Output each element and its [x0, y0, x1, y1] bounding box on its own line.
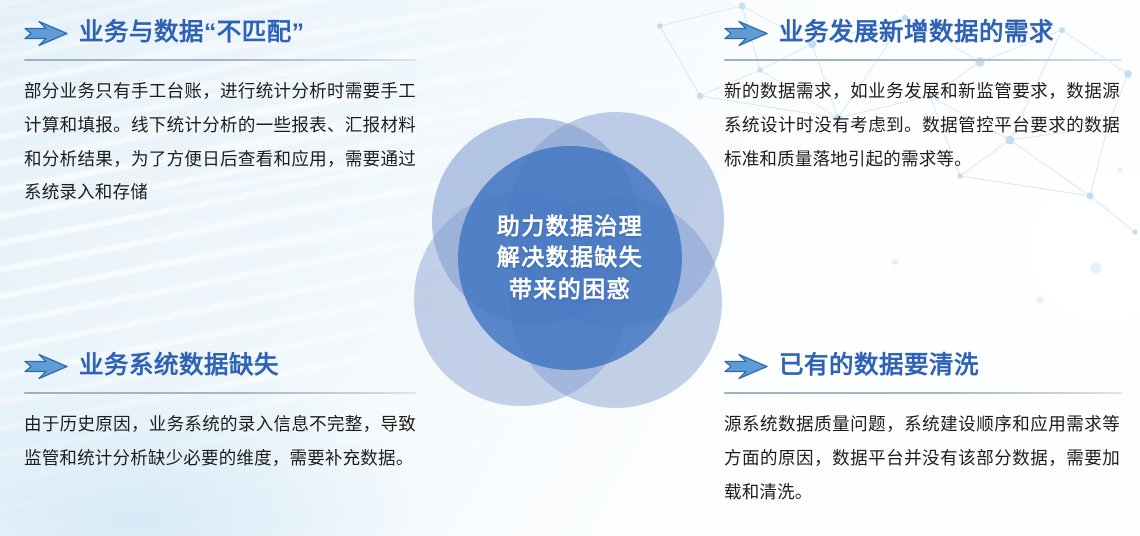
arrow-right-icon — [724, 353, 768, 380]
panel-body-text: 新的数据需求，如业务发展和新监管要求，数据源系统设计时没有考虑到。数据管控平台要… — [724, 75, 1122, 176]
panel-divider — [24, 392, 416, 394]
panel-title: 业务系统数据缺失 — [79, 354, 279, 379]
panel-header: 业务系统数据缺失 — [24, 347, 416, 385]
panel-title: 业务发展新增数据的需求 — [779, 21, 1054, 46]
panel-business-system-data-missing: 业务系统数据缺失 由于历史原因，业务系统的录入信息不完整，导致监管和统计分析缺少… — [24, 347, 416, 476]
center-text-line-1: 助力数据治理 — [497, 211, 643, 242]
arrow-right-icon — [24, 20, 68, 47]
center-text-line-3: 带来的困惑 — [509, 274, 631, 305]
panel-divider — [24, 59, 416, 61]
panel-body-text: 部分业务只有手工台账，进行统计分析时需要手工计算和填报。线下统计分析的一些报表、… — [24, 75, 416, 210]
center-text-line-2: 解决数据缺失 — [497, 242, 643, 273]
slide-canvas: 助力数据治理 解决数据缺失 带来的困惑 业务与数据“不匹配” 部分业务只有手工台… — [0, 0, 1140, 536]
panel-business-data-mismatch: 业务与数据“不匹配” 部分业务只有手工台账，进行统计分析时需要手工计算和填报。线… — [24, 14, 416, 210]
panel-business-growth-new-data-demand: 业务发展新增数据的需求 新的数据需求，如业务发展和新监管要求，数据源系统设计时没… — [724, 14, 1122, 176]
panel-divider — [724, 392, 1122, 394]
panel-divider — [724, 59, 1122, 61]
panel-existing-data-needs-cleaning: 已有的数据要清洗 源系统数据质量问题，系统建设顺序和应用需求等方面的原因，数据平… — [724, 347, 1122, 509]
panel-header: 已有的数据要清洗 — [724, 347, 1122, 385]
arrow-right-icon — [24, 353, 68, 380]
venn-core-circle: 助力数据治理 解决数据缺失 带来的困惑 — [458, 146, 682, 370]
panel-header: 业务与数据“不匹配” — [24, 14, 416, 52]
center-venn-diagram: 助力数据治理 解决数据缺失 带来的困惑 — [398, 96, 742, 416]
panel-title: 已有的数据要清洗 — [779, 354, 979, 379]
panel-header: 业务发展新增数据的需求 — [724, 14, 1122, 52]
arrow-right-icon — [724, 20, 768, 47]
panel-body-text: 源系统数据质量问题，系统建设顺序和应用需求等方面的原因，数据平台并没有该部分数据… — [724, 408, 1122, 509]
panel-body-text: 由于历史原因，业务系统的录入信息不完整，导致监管和统计分析缺少必要的维度，需要补… — [24, 408, 416, 476]
panel-title: 业务与数据“不匹配” — [79, 21, 305, 46]
